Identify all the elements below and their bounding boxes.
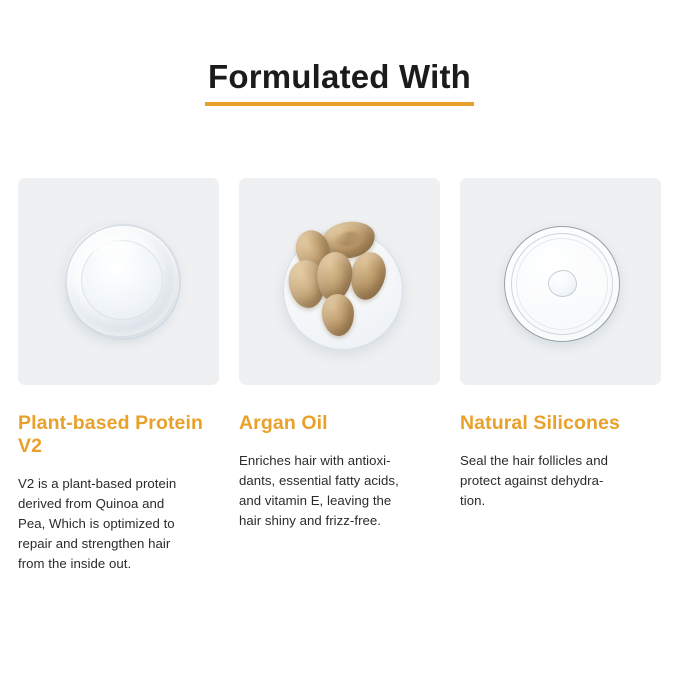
description-line: dants, essential fatty acids, (239, 471, 440, 491)
argan-nuts-dish-image (239, 178, 440, 385)
petri-dish-silicone-image (460, 178, 661, 385)
description-line: V2 is a plant-based protein (18, 474, 219, 494)
page-title: Formulated With (0, 58, 679, 106)
page-title-text: Formulated With (205, 58, 474, 106)
description-line: repair and strengthen hair (18, 534, 219, 554)
description-line: Seal the hair follicles and (460, 451, 661, 471)
formulated-with-section: Formulated With Plant-based Protein V2 V… (0, 0, 679, 679)
ingredient-description: Seal the hair follicles and protect agai… (460, 451, 661, 511)
ingredient-description: Enriches hair with antioxi- dants, essen… (239, 451, 440, 531)
ingredient-heading: Argan Oil (239, 412, 440, 435)
ingredient-heading: Plant-based Protein V2 (18, 412, 219, 458)
ingredient-card-plant-based-protein: Plant-based Protein V2 V2 is a plant-bas… (18, 178, 219, 574)
petri-dish-illustration (460, 178, 661, 385)
ingredient-card-natural-silicones: Natural Silicones Seal the hair follicle… (460, 178, 661, 574)
description-line: Enriches hair with antioxi- (239, 451, 440, 471)
ingredient-card-argan-oil: Argan Oil Enriches hair with antioxi- da… (239, 178, 440, 574)
description-line: and vitamin E, leaving the (239, 491, 440, 511)
description-line: protect against dehydra- (460, 471, 661, 491)
ingredient-heading: Natural Silicones (460, 412, 661, 435)
ingredient-columns: Plant-based Protein V2 V2 is a plant-bas… (18, 178, 662, 574)
argan-nuts-illustration (239, 178, 440, 385)
description-line: hair shiny and frizz-free. (239, 511, 440, 531)
description-line: tion. (460, 491, 661, 511)
description-line: from the inside out. (18, 554, 219, 574)
ingredient-description: V2 is a plant-based protein derived from… (18, 474, 219, 574)
gel-dish-highlight (92, 240, 138, 262)
gel-dish-illustration (18, 178, 219, 385)
description-line: Pea, Which is optimized to (18, 514, 219, 534)
description-line: derived from Quinoa and (18, 494, 219, 514)
silicone-droplet (548, 270, 577, 297)
clear-gel-dish-image (18, 178, 219, 385)
